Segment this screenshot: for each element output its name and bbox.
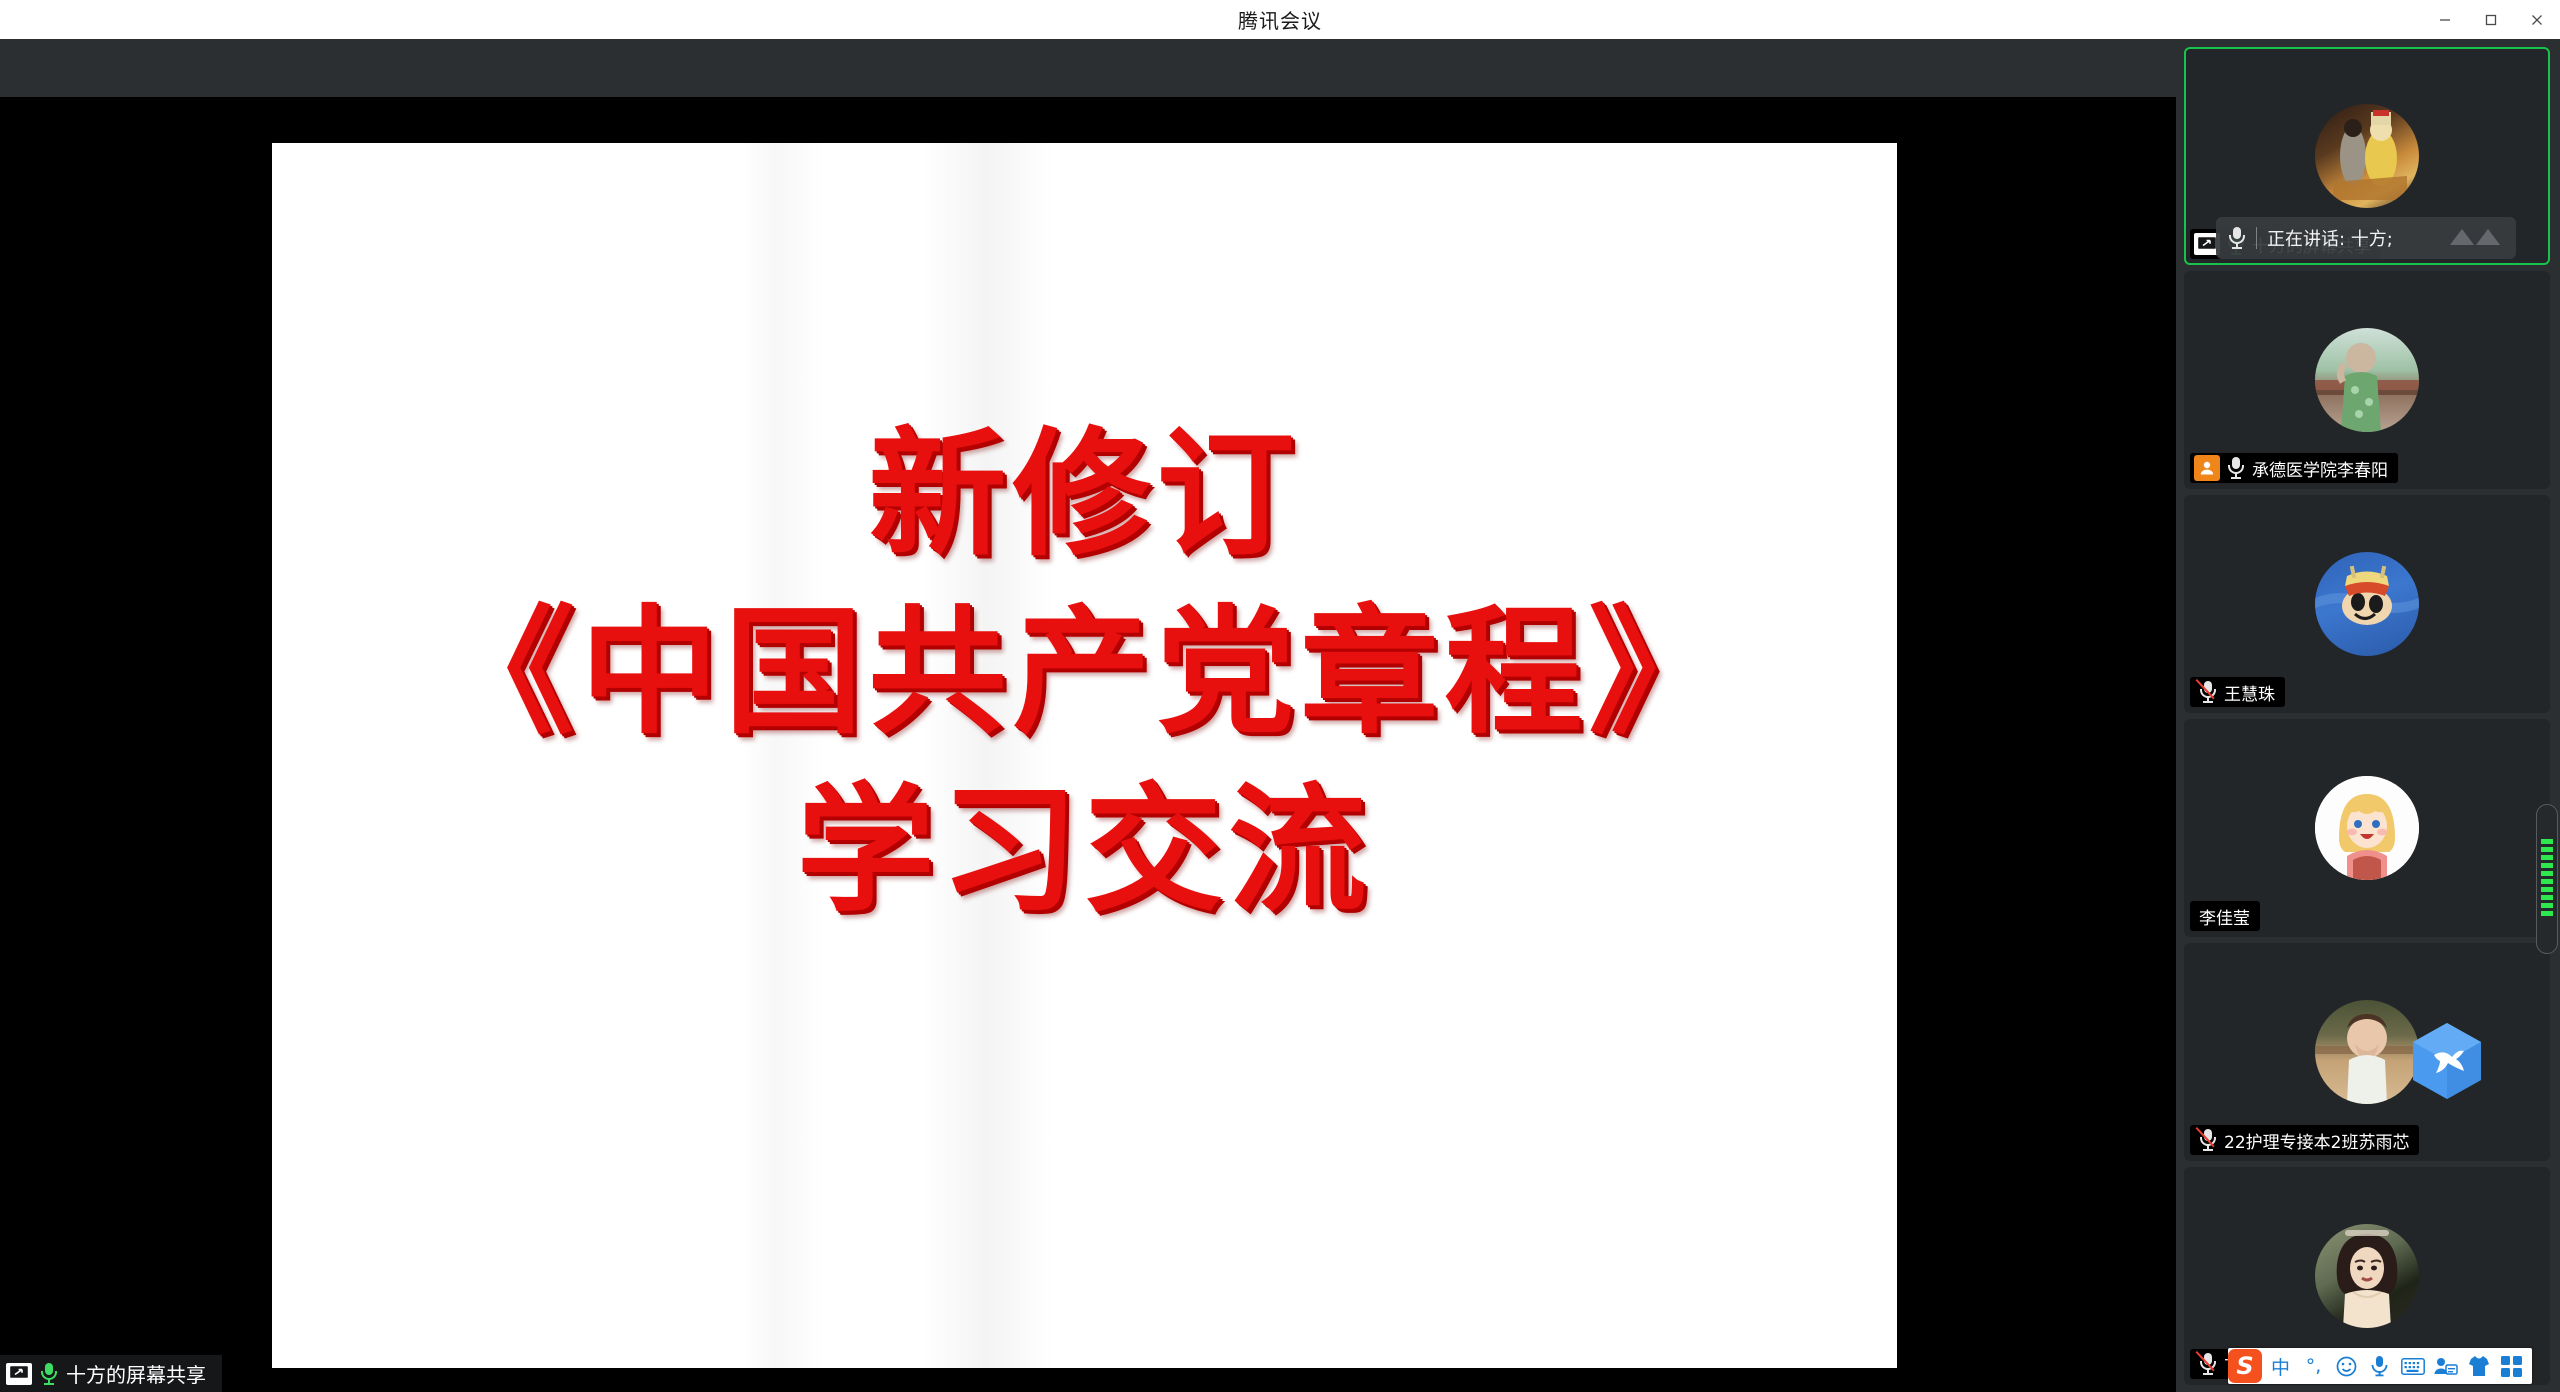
participant-label: 承德医学院李春阳	[2190, 453, 2398, 483]
soft-keyboard-icon[interactable]	[2396, 1349, 2429, 1383]
screen-share-status-bar: 十方的屏幕共享	[0, 1355, 222, 1392]
sogou-ime-toolbar[interactable]: S 中 °,	[2228, 1348, 2532, 1384]
slide-line-3: 学习交流	[796, 781, 1372, 919]
participant-name: 承德医学院李春阳	[2252, 456, 2388, 481]
participant-tile[interactable]: 王慧珠	[2184, 495, 2550, 713]
slide-line-2: 《中国共产党章程》	[436, 603, 1732, 741]
participant-label: 22护理专接本2班苏雨芯	[2190, 1125, 2419, 1155]
slide-line-1: 新修订	[868, 425, 1300, 563]
shared-screen-stage[interactable]: 新修订 《中国共产党章程》 学习交流 十方的屏幕共享	[0, 97, 2176, 1392]
toolbox-grid-icon[interactable]	[2495, 1349, 2528, 1383]
participant-label: 王慧珠	[2190, 677, 2285, 707]
voice-input-icon[interactable]	[2363, 1349, 2396, 1383]
avatar	[2315, 328, 2419, 432]
punctuation-mode-icon[interactable]: °,	[2297, 1349, 2330, 1383]
language-mode-icon[interactable]: 中	[2264, 1349, 2297, 1383]
participant-tile[interactable]: 十方的屏幕共享 正在讲话: 十方;	[2184, 47, 2550, 265]
participant-name: 22护理专接本2班苏雨芯	[2224, 1128, 2409, 1153]
participant-rail[interactable]: 十方的屏幕共享 正在讲话: 十方;	[2176, 39, 2560, 1392]
participant-label: 李佳莹	[2190, 901, 2260, 931]
user-dictionary-icon[interactable]	[2429, 1349, 2462, 1383]
sogou-logo-icon[interactable]: S	[2228, 1349, 2262, 1383]
participant-tile[interactable]: 22护理专接本2班苏雨芯	[2184, 943, 2550, 1161]
participant-name: 李佳莹	[2199, 904, 2250, 929]
window-controls	[2422, 0, 2560, 39]
avatar	[2315, 1224, 2419, 1328]
share-status-text: 十方的屏幕共享	[66, 1359, 206, 1388]
avatar	[2315, 104, 2419, 208]
participant-tile[interactable]: 李佳莹	[2184, 719, 2550, 937]
close-button[interactable]	[2514, 0, 2560, 39]
screen-share-icon	[6, 1363, 32, 1385]
mic-muted-icon	[2199, 1128, 2217, 1152]
tencent-meeting-logo-icon	[2448, 223, 2504, 254]
avatar	[2315, 776, 2419, 880]
mic-on-icon	[40, 1362, 58, 1386]
participant-tile[interactable]: 承德医学院李春阳	[2184, 271, 2550, 489]
skin-shirt-icon[interactable]	[2462, 1349, 2495, 1383]
audio-level-meter	[2541, 839, 2553, 919]
participant-name: 王慧珠	[2224, 680, 2275, 705]
speaking-text: 正在讲话: 十方;	[2267, 225, 2393, 251]
mic-icon	[2227, 456, 2245, 480]
stage-top-strip	[0, 39, 2176, 97]
tencent-meeting-window: 腾讯会议 新修订	[0, 0, 2560, 1392]
divider	[2256, 227, 2257, 249]
speaking-toast: 正在讲话: 十方;	[2216, 217, 2516, 259]
mic-icon	[2228, 226, 2246, 250]
shared-slide: 新修订 《中国共产党章程》 学习交流	[272, 143, 1897, 1368]
emoji-icon[interactable]	[2330, 1349, 2363, 1383]
avatar	[2315, 552, 2419, 656]
title-bar: 腾讯会议	[0, 0, 2560, 39]
avatar	[2315, 1000, 2419, 1104]
blue-bird-hexagon-icon	[2410, 1021, 2484, 1101]
mic-muted-icon	[2199, 1352, 2217, 1376]
window-title: 腾讯会议	[1238, 5, 1322, 34]
rail-scrollbar[interactable]	[2536, 804, 2558, 954]
minimize-button[interactable]	[2422, 0, 2468, 39]
host-badge-icon	[2194, 455, 2220, 481]
mic-muted-icon	[2199, 680, 2217, 704]
maximize-restore-icon[interactable]	[2468, 0, 2514, 39]
